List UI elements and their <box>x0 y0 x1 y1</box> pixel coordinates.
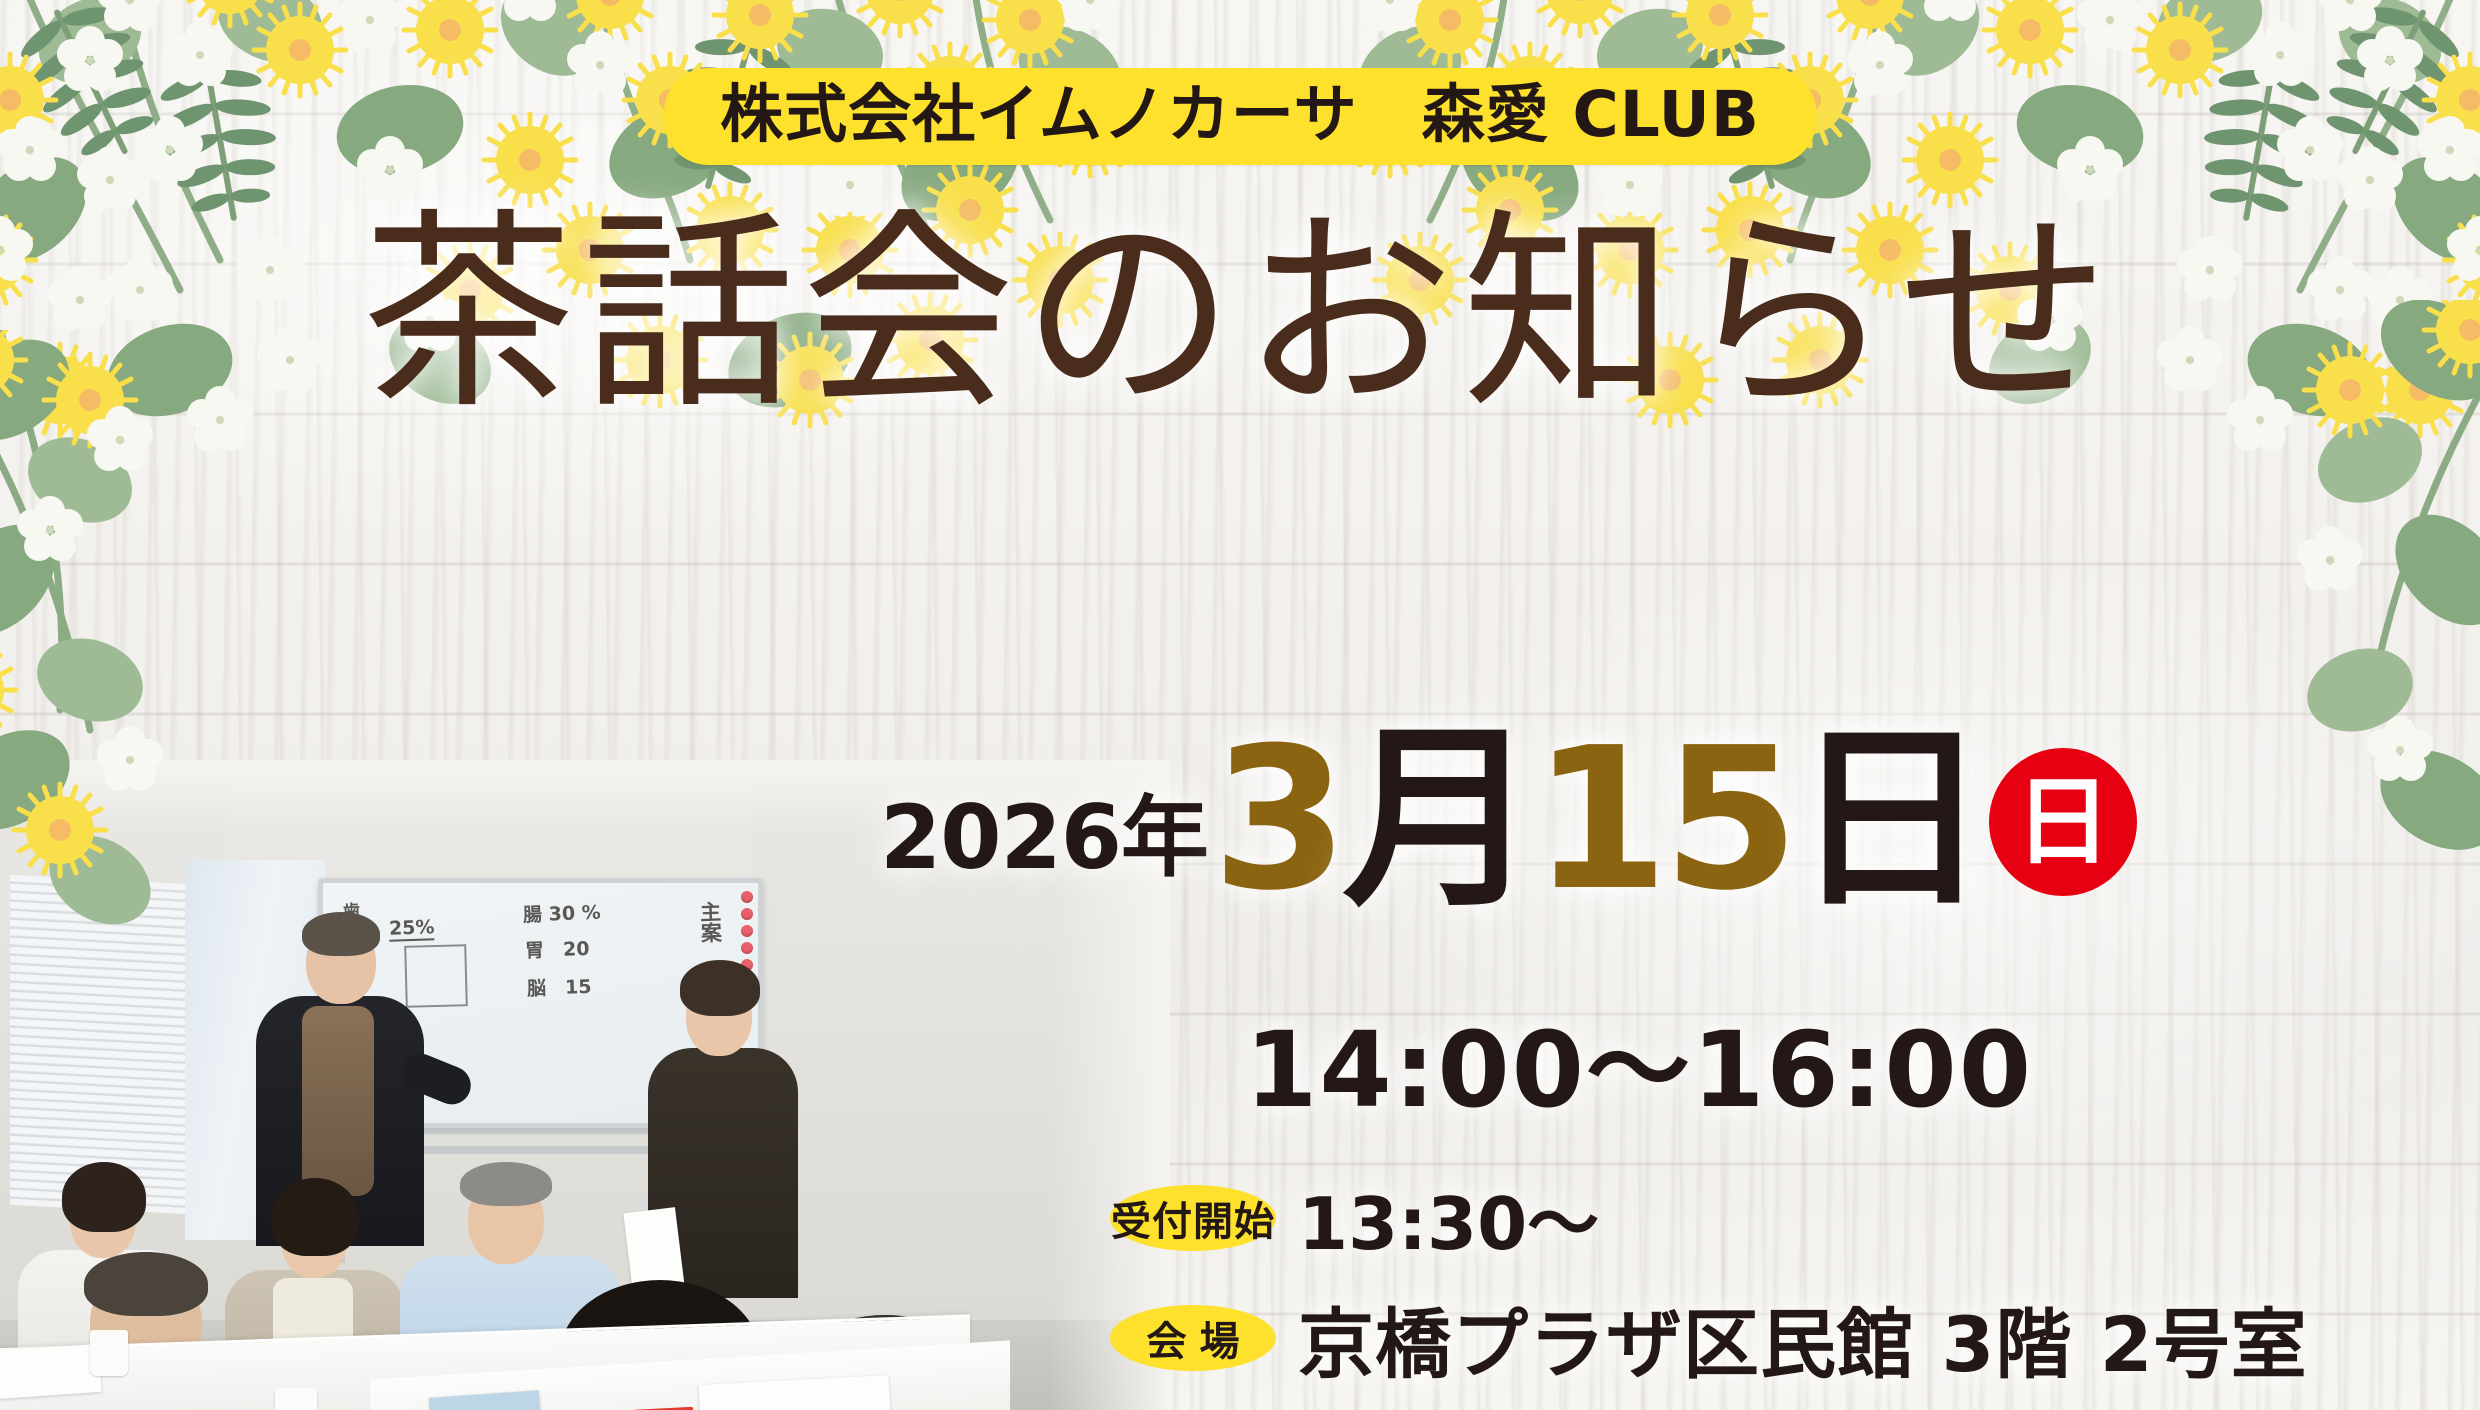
reception-label-badge: 受付開始 <box>1110 1185 1276 1251</box>
event-date-main: 3月15日 <box>1212 730 1983 910</box>
event-time-text: 14:00〜16:00 <box>1245 1009 2033 1131</box>
whiteboard-note-8: 脳 15 <box>527 972 592 1001</box>
poster-canvas: 歯 足 腸 眼 ルテイン 25% 腸 30 % 胃 20 脳 15 主案 <box>0 0 2480 1410</box>
venue-name: 京橋プラザ区民館 3階 2号室 <box>1298 1283 2308 1393</box>
photo-paper-1 <box>0 1344 102 1400</box>
venue-row: 会場 京橋プラザ区民館 3階 2号室 <box>1110 1283 2308 1393</box>
venue-label-badge: 会場 <box>1110 1305 1276 1371</box>
reception-time: 13:30〜 <box>1298 1165 1599 1270</box>
whiteboard-note-9: 主案 <box>694 900 725 943</box>
event-day-number: 15 <box>1532 706 1793 934</box>
event-date: 2026年 3月15日 日 <box>880 730 2137 910</box>
brand-banner-text: 株式会社イムノカーサ 森愛 CLUB <box>720 80 1760 149</box>
reception-row: 受付開始 13:30〜 <box>1110 1165 1599 1270</box>
person-presenter-woman <box>640 960 800 1290</box>
day-of-week-text: 日 <box>2015 774 2111 870</box>
brand-banner: 株式会社イムノカーサ 森愛 CLUB <box>664 68 1816 165</box>
photo-cup-1 <box>90 1330 128 1376</box>
day-of-week-badge: 日 <box>1989 748 2137 896</box>
page-title-text: 茶話会のお知らせ <box>362 190 2118 437</box>
event-month-kanji: 月 <box>1342 706 1532 934</box>
event-day-kanji: 日 <box>1793 706 1983 934</box>
event-month-number: 3 <box>1212 706 1342 934</box>
event-time: 14:00〜16:00 <box>1245 985 2033 1136</box>
whiteboard-note-7: 胃 20 <box>525 934 590 963</box>
event-year: 2026年 <box>880 794 1208 910</box>
page-title: 茶話会のお知らせ <box>0 200 2480 429</box>
venue-label-text: 会場 <box>1134 1309 1253 1367</box>
photo-cup-2 <box>275 1388 317 1410</box>
whiteboard-note-6: 腸 30 % <box>523 898 602 928</box>
reception-label-text: 受付開始 <box>1111 1189 1275 1247</box>
